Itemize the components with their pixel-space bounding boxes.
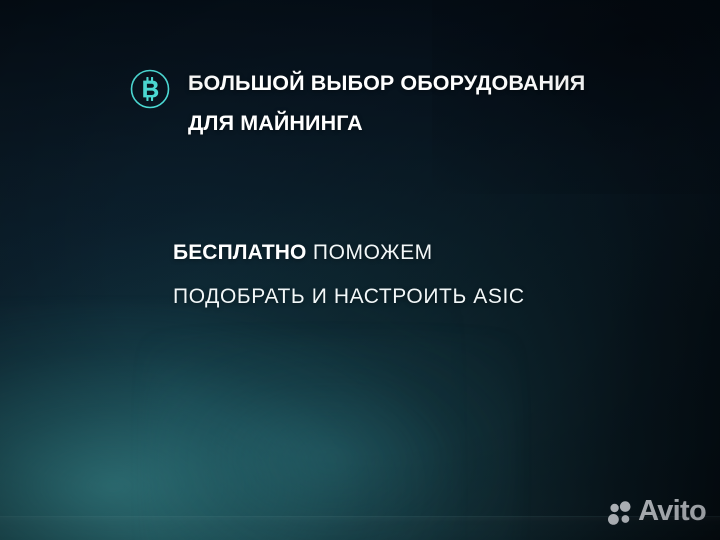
headline-line-2: ДЛЯ МАЙНИНГА (188, 103, 585, 143)
subheadline-emphasis: БЕСПЛАТНО (173, 241, 306, 264)
mining-equipment-banner: БОЛЬШОЙ ВЫБОР ОБОРУДОВАНИЯ ДЛЯ МАЙНИНГА … (0, 0, 720, 540)
avito-watermark: Avito (607, 498, 706, 527)
headline-text-group: БОЛЬШОЙ ВЫБОР ОБОРУДОВАНИЯ ДЛЯ МАЙНИНГА (188, 62, 585, 143)
teal-glow-center (144, 335, 518, 540)
headline-line-1: БОЛЬШОЙ ВЫБОР ОБОРУДОВАНИЯ (188, 63, 585, 103)
bitcoin-icon (128, 67, 172, 111)
subheadline-block: БЕСПЛАТНО ПОМОЖЕМ ПОДОБРАТЬ И НАСТРОИТЬ … (173, 231, 525, 319)
headline-block: БОЛЬШОЙ ВЫБОР ОБОРУДОВАНИЯ ДЛЯ МАЙНИНГА (128, 62, 585, 143)
subheadline-line-1-rest: ПОМОЖЕМ (306, 241, 432, 264)
avito-wordmark: Avito (638, 497, 706, 526)
avito-dots-icon (607, 500, 633, 526)
subheadline-line-2: ПОДОБРАТЬ И НАСТРОИТЬ ASIC (173, 275, 525, 319)
subheadline-line-1: БЕСПЛАТНО ПОМОЖЕМ (173, 231, 525, 275)
